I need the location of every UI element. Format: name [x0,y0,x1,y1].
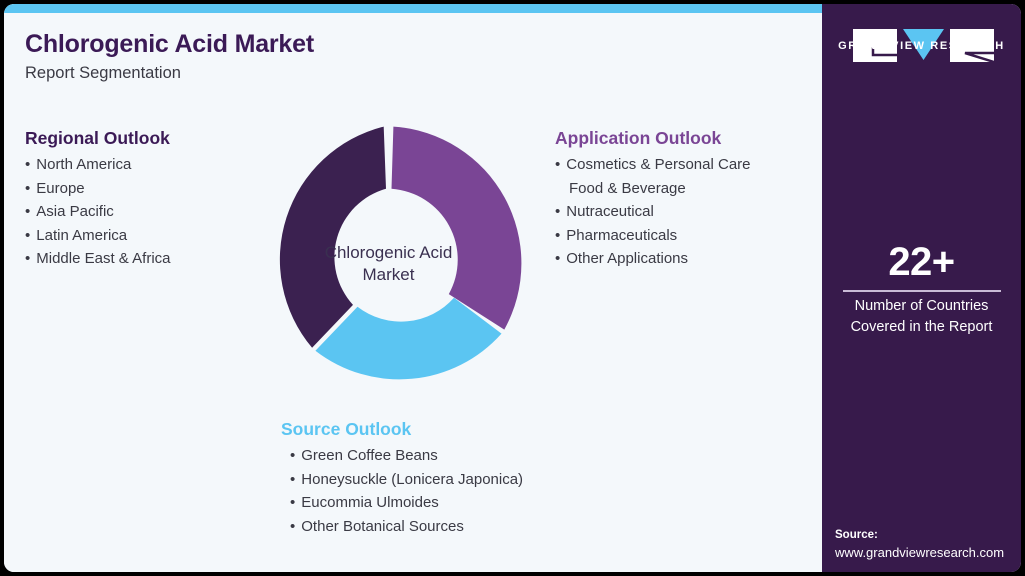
list-item: Europe [25,177,171,201]
page-title: Chlorogenic Acid Market [25,30,314,59]
stat-caption-line2: Covered in the Report [822,317,1021,338]
stat-caption-line1: Number of Countries [822,296,1021,317]
application-outlook-heading: Application Outlook [555,128,751,149]
donut-center-line2: Market [363,264,415,286]
list-item: Other Applications [555,247,751,271]
list-item: Pharmaceuticals [555,224,751,248]
infographic-frame: Chlorogenic Acid Market Report Segmentat… [4,4,1021,572]
stat-divider [843,290,1001,292]
source-label: Source: [835,529,878,541]
list-item: North America [25,153,171,177]
regional-outlook-list: North America Europe Asia Pacific Latin … [25,153,171,271]
stat-number: 22+ [822,240,1021,285]
regional-outlook-block: Regional Outlook North America Europe As… [25,128,171,271]
source-outlook-block: Source Outlook Green Coffee Beans Honeys… [281,419,523,538]
list-item: Cosmetics & Personal Care [555,153,751,177]
regional-outlook-heading: Regional Outlook [25,128,171,149]
donut-center-line1: Chlorogenic Acid [325,242,453,264]
top-accent-bar [4,4,822,13]
application-outlook-list: Cosmetics & Personal Care Food & Beverag… [555,153,751,271]
application-outlook-block: Application Outlook Cosmetics & Personal… [555,128,751,271]
list-item: Other Botanical Sources [281,515,523,539]
list-item: Eucommia Ulmoides [281,491,523,515]
source-outlook-heading: Source Outlook [281,419,523,440]
sidebar-panel: GRAND VIEW RESEARCH 22+ Number of Countr… [822,4,1021,572]
list-item: Middle East & Africa [25,247,171,271]
donut-center-label: Chlorogenic Acid Market [247,122,530,405]
segmentation-donut-chart: Chlorogenic Acid Market [247,122,530,405]
list-item: Nutraceutical [555,200,751,224]
list-item: Latin America [25,224,171,248]
main-panel: Chlorogenic Acid Market Report Segmentat… [4,4,822,572]
logo-caption: GRAND VIEW RESEARCH [822,40,1021,52]
list-item: Honeysuckle (Lonicera Japonica) [281,468,523,492]
list-item: Green Coffee Beans [281,444,523,468]
source-outlook-list: Green Coffee Beans Honeysuckle (Lonicera… [281,444,523,538]
source-url[interactable]: www.grandviewresearch.com [835,545,1004,560]
page-subtitle: Report Segmentation [25,64,181,83]
stat-caption: Number of Countries Covered in the Repor… [822,296,1021,338]
list-item: Food & Beverage [555,177,751,201]
list-item: Asia Pacific [25,200,171,224]
